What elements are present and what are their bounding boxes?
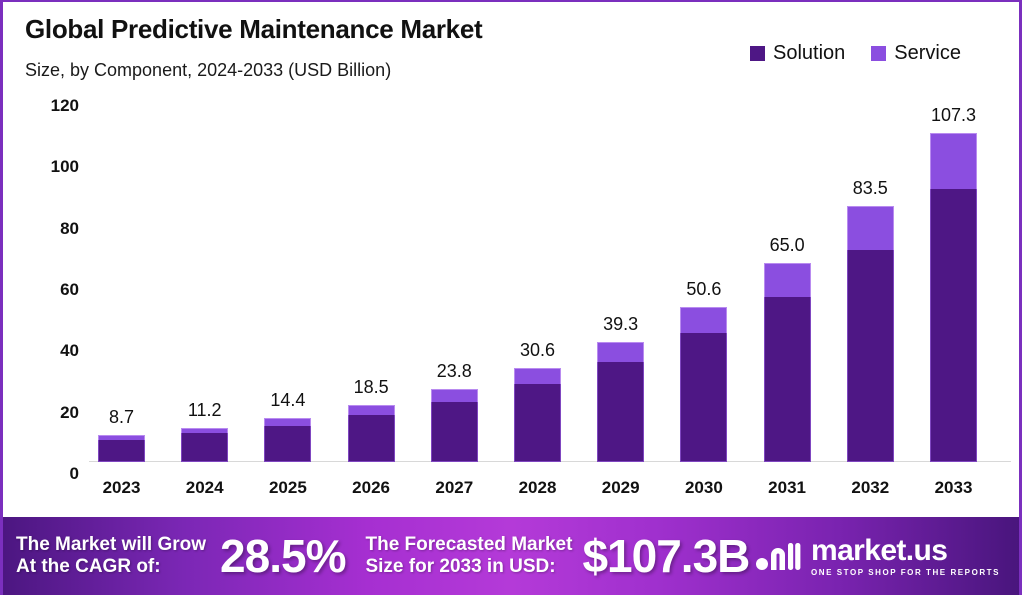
cagr-caption: The Market will Grow At the CAGR of: — [16, 534, 206, 579]
bar-stack[interactable]: 18.5 — [348, 405, 395, 462]
x-axis-tick: 2029 — [597, 478, 644, 498]
bar-group[interactable]: 18.5 — [348, 405, 395, 462]
bar-stack[interactable]: 23.8 — [431, 389, 478, 462]
bar-value-label: 65.0 — [770, 235, 805, 256]
bars-container: 8.711.214.418.523.830.639.350.665.083.51… — [89, 94, 1011, 474]
chart-header: Global Predictive Maintenance Market Siz… — [3, 2, 1019, 94]
bar-segment-solution[interactable] — [680, 333, 727, 462]
logo-wordmark: market.us — [811, 536, 1000, 566]
forecast-caption-line1: The Forecasted Market — [365, 534, 572, 556]
page-title: Global Predictive Maintenance Market — [25, 14, 482, 45]
legend-item-service[interactable]: Service — [871, 42, 961, 65]
cagr-block: The Market will Grow At the CAGR of: 28.… — [16, 517, 345, 595]
chart-subtitle: Size, by Component, 2024-2033 (USD Billi… — [25, 60, 391, 81]
bar-value-label: 23.8 — [437, 361, 472, 382]
bar-stack[interactable]: 8.7 — [98, 435, 145, 462]
y-axis-tick: 120 — [51, 96, 79, 116]
bar-segment-solution[interactable] — [264, 426, 311, 462]
bar-segment-service[interactable] — [930, 133, 977, 189]
bar-segment-service[interactable] — [431, 389, 478, 402]
y-axis-tick: 20 — [60, 403, 79, 423]
x-axis-tick: 2031 — [764, 478, 811, 498]
x-axis-tick: 2032 — [847, 478, 894, 498]
logo-tagline: ONE STOP SHOP FOR THE REPORTS — [811, 569, 1000, 577]
x-axis-tick: 2026 — [348, 478, 395, 498]
cagr-value: 28.5% — [220, 533, 345, 579]
bar-group[interactable]: 14.4 — [264, 418, 311, 462]
x-axis-tick: 2033 — [930, 478, 977, 498]
bar-segment-service[interactable] — [680, 307, 727, 333]
forecast-caption: The Forecasted Market Size for 2033 in U… — [365, 534, 572, 579]
x-axis-tick: 2030 — [680, 478, 727, 498]
x-axis-tick: 2023 — [98, 478, 145, 498]
legend-label-solution: Solution — [773, 42, 845, 65]
cagr-caption-line2: At the CAGR of: — [16, 556, 206, 578]
legend-swatch-service — [871, 46, 886, 61]
bar-segment-solution[interactable] — [181, 433, 228, 462]
legend-item-solution[interactable]: Solution — [750, 42, 845, 65]
y-axis-tick: 0 — [70, 464, 79, 484]
bar-group[interactable]: 83.5 — [847, 206, 894, 462]
bar-value-label: 83.5 — [853, 178, 888, 199]
bar-group[interactable]: 23.8 — [431, 389, 478, 462]
forecast-caption-line2: Size for 2033 in USD: — [365, 556, 572, 578]
bar-segment-service[interactable] — [264, 418, 311, 426]
bar-segment-solution[interactable] — [98, 440, 145, 462]
bar-value-label: 107.3 — [931, 105, 976, 126]
bar-segment-service[interactable] — [348, 405, 395, 415]
cagr-caption-line1: The Market will Grow — [16, 534, 206, 556]
x-axis-tick: 2028 — [514, 478, 561, 498]
legend-label-service: Service — [894, 42, 961, 65]
bar-value-label: 39.3 — [603, 314, 638, 335]
legend-swatch-solution — [750, 46, 765, 61]
bar-segment-solution[interactable] — [514, 384, 561, 462]
bar-stack[interactable]: 11.2 — [181, 428, 228, 462]
x-axis-tick: 2024 — [181, 478, 228, 498]
bar-segment-solution[interactable] — [348, 415, 395, 462]
bar-group[interactable]: 39.3 — [597, 342, 644, 463]
bar-segment-service[interactable] — [764, 263, 811, 297]
bar-group[interactable]: 30.6 — [514, 368, 561, 462]
bar-stack[interactable]: 65.0 — [764, 263, 811, 462]
y-axis-tick: 40 — [60, 341, 79, 361]
bar-group[interactable]: 65.0 — [764, 263, 811, 462]
forecast-value: $107.3B — [582, 533, 749, 579]
logo-bars-icon — [755, 539, 801, 573]
bar-segment-solution[interactable] — [431, 402, 478, 462]
bar-value-label: 8.7 — [109, 407, 134, 428]
bar-segment-service[interactable] — [597, 342, 644, 363]
x-axis-tick: 2025 — [264, 478, 311, 498]
bar-stack[interactable]: 30.6 — [514, 368, 561, 462]
bar-segment-solution[interactable] — [597, 362, 644, 462]
y-axis: 120100806040200 — [3, 94, 89, 474]
x-axis: 2023202420252026202720282029203020312032… — [89, 474, 1011, 514]
y-axis-tick: 100 — [51, 157, 79, 177]
bar-group[interactable]: 11.2 — [181, 428, 228, 462]
bar-segment-solution[interactable] — [930, 189, 977, 462]
bar-stack[interactable]: 107.3 — [930, 133, 977, 462]
bar-group[interactable]: 50.6 — [680, 307, 727, 462]
x-axis-tick: 2027 — [431, 478, 478, 498]
bar-segment-solution[interactable] — [764, 297, 811, 462]
bar-value-label: 50.6 — [686, 279, 721, 300]
market-us-logo[interactable]: market.us ONE STOP SHOP FOR THE REPORTS — [755, 536, 1000, 577]
bar-stack[interactable]: 50.6 — [680, 307, 727, 462]
bar-value-label: 30.6 — [520, 340, 555, 361]
bar-stack[interactable]: 83.5 — [847, 206, 894, 462]
chart-page: Global Predictive Maintenance Market Siz… — [0, 0, 1022, 595]
bar-group[interactable]: 107.3 — [930, 133, 977, 462]
logo-text: market.us ONE STOP SHOP FOR THE REPORTS — [811, 536, 1000, 577]
bar-group[interactable]: 8.7 — [98, 435, 145, 462]
bar-segment-service[interactable] — [847, 206, 894, 250]
chart-legend: Solution Service — [750, 42, 961, 65]
bar-value-label: 11.2 — [188, 400, 222, 421]
bar-segment-solution[interactable] — [847, 250, 894, 462]
bar-stack[interactable]: 14.4 — [264, 418, 311, 462]
bar-segment-service[interactable] — [514, 368, 561, 384]
forecast-block: The Forecasted Market Size for 2033 in U… — [365, 517, 749, 595]
bar-stack[interactable]: 39.3 — [597, 342, 644, 463]
bar-value-label: 18.5 — [354, 377, 389, 398]
plot-area: 120100806040200 8.711.214.418.523.830.63… — [3, 94, 1019, 520]
footer-banner: The Market will Grow At the CAGR of: 28.… — [0, 517, 1022, 595]
bar-value-label: 14.4 — [270, 390, 305, 411]
y-axis-tick: 60 — [60, 280, 79, 300]
y-axis-tick: 80 — [60, 219, 79, 239]
